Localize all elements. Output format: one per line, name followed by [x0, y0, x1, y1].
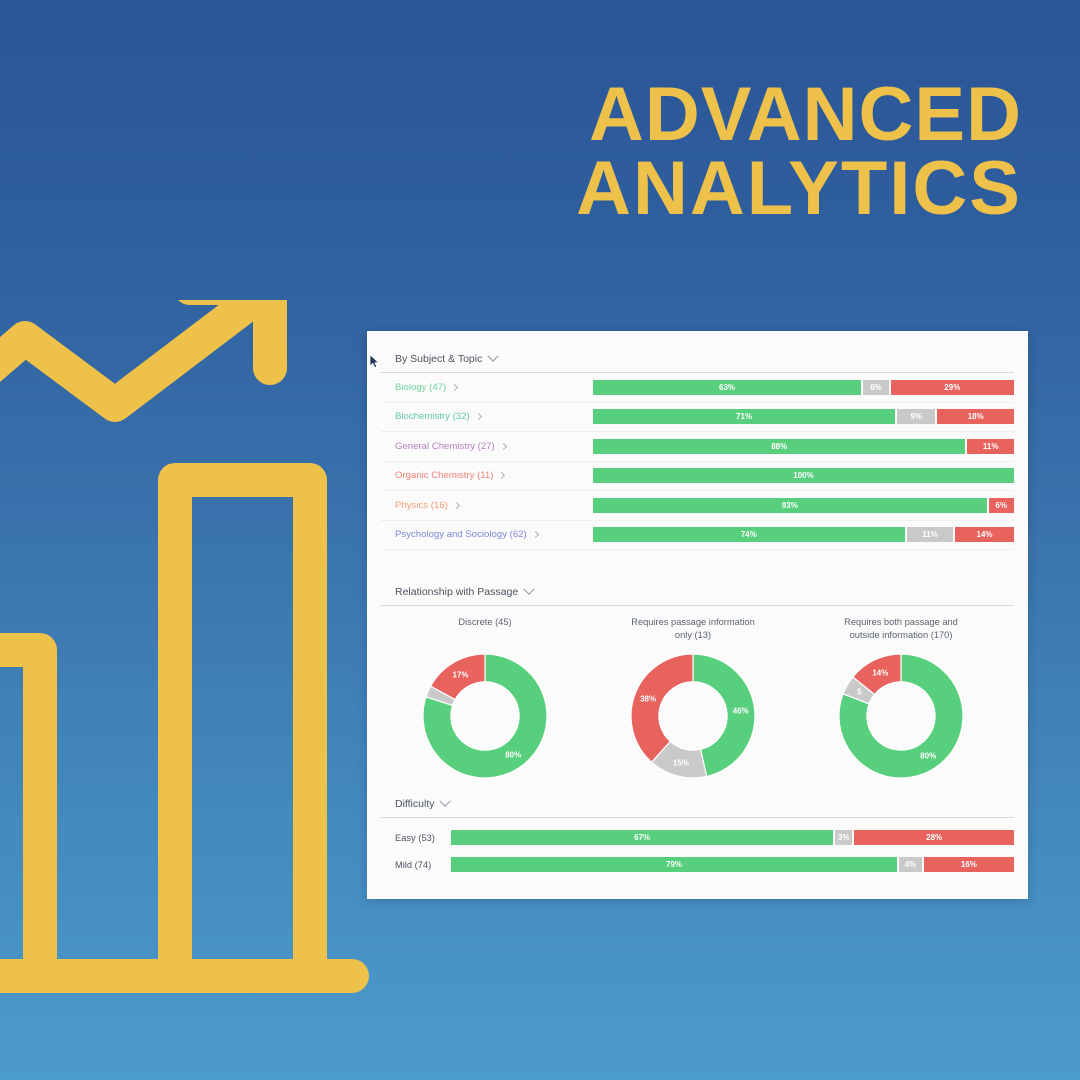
donut-chart-title: Requires both passage andoutside informa… [797, 616, 1005, 646]
headline-line-2: ANALYTICS [576, 152, 1022, 226]
donut-chart-title: Requires passage informationonly (13) [589, 616, 797, 646]
bar-segment-correct: 63% [593, 380, 861, 395]
mouse-cursor-icon [369, 354, 380, 369]
donut-slice-incorrect [631, 654, 693, 762]
headline-line-1: ADVANCED [589, 72, 1022, 157]
section-header-subject[interactable]: By Subject & Topic [381, 331, 1014, 372]
subject-name: Psychology and Sociology (62) [395, 529, 527, 540]
subject-row-label[interactable]: General Chemistry (27) [381, 441, 593, 452]
bar-segment-incorrect: 6% [989, 498, 1014, 513]
chevron-down-icon[interactable] [488, 351, 499, 362]
donut-chart-cell: Requires both passage andoutside informa… [797, 616, 1005, 778]
chevron-right-icon[interactable] [475, 413, 482, 420]
stacked-bar: 63%6%29% [593, 380, 1014, 395]
bar-segment-correct: 100% [593, 468, 1014, 483]
difficulty-row-label: Mild (74) [381, 860, 451, 870]
chevron-down-icon[interactable] [440, 796, 451, 807]
bar-segment-incorrect: 29% [891, 380, 1014, 395]
donut-chart[interactable]: 80%17% [423, 654, 547, 778]
table-row[interactable]: Easy (53)67%3%28% [381, 827, 1014, 848]
donut-chart-cell: Discrete (45)80%17% [381, 616, 589, 778]
donut-slice-label: 80% [920, 751, 936, 760]
bar-segment-partial: 9% [897, 409, 935, 424]
chevron-right-icon[interactable] [453, 502, 460, 509]
stacked-bar: 93%6% [593, 498, 1014, 513]
bar-segment-partial: 3% [835, 830, 852, 845]
section-title-passage: Relationship with Passage [395, 586, 518, 598]
bar-segment-incorrect: 11% [967, 439, 1014, 454]
subject-name: Physics (16) [395, 500, 448, 511]
subject-bar-list: Biology (47)63%6%29%Biochemistry (32)71%… [381, 373, 1014, 550]
donut-slice-label: 14% [872, 668, 888, 677]
stacked-bar: 71%9%18% [593, 409, 1014, 424]
subject-name: Organic Chemistry (11) [395, 470, 493, 481]
section-title-subject: By Subject & Topic [395, 353, 482, 365]
stacked-bar: 74%11%14% [593, 527, 1014, 542]
table-row[interactable]: Physics (16)93%6% [381, 491, 1014, 521]
donut-slice-label: 5 [857, 687, 861, 696]
stacked-bar: 88%11% [593, 439, 1014, 454]
page-title: ADVANCED ANALYTICS [576, 78, 1022, 227]
bar-segment-partial: 11% [907, 527, 953, 542]
chevron-right-icon[interactable] [532, 531, 539, 538]
bar-segment-incorrect: 18% [937, 409, 1014, 424]
bar-segment-correct: 88% [593, 439, 965, 454]
chevron-down-icon[interactable] [523, 584, 534, 595]
section-header-difficulty[interactable]: Difficulty [381, 784, 1014, 817]
bar-segment-incorrect: 14% [955, 527, 1014, 542]
stacked-bar: 100% [593, 468, 1014, 483]
subject-row-label[interactable]: Biology (47) [381, 382, 593, 393]
donut-chart[interactable]: 46%15%38% [631, 654, 755, 778]
bar-segment-correct: 79% [451, 857, 897, 872]
subject-name: Biochemistry (32) [395, 411, 470, 422]
section-title-difficulty: Difficulty [395, 798, 434, 810]
passage-donut-group: Discrete (45)80%17%Requires passage info… [381, 606, 1014, 784]
chevron-right-icon[interactable] [451, 384, 458, 391]
table-row[interactable]: Psychology and Sociology (62)74%11%14% [381, 521, 1014, 551]
donut-chart-cell: Requires passage informationonly (13)46%… [589, 616, 797, 778]
table-row[interactable]: Biology (47)63%6%29% [381, 373, 1014, 403]
bar-segment-partial: 4% [899, 857, 922, 872]
growth-chart-artwork [0, 300, 410, 1020]
bar-segment-partial: 6% [863, 380, 889, 395]
stacked-bar: 67%3%28% [451, 830, 1014, 845]
subject-name: Biology (47) [395, 382, 446, 393]
donut-slice-label: 38% [640, 694, 656, 703]
donut-chart[interactable]: 80%514% [839, 654, 963, 778]
analytics-dashboard-card: By Subject & Topic Biology (47)63%6%29%B… [367, 331, 1028, 899]
table-row[interactable]: General Chemistry (27)88%11% [381, 432, 1014, 462]
donut-chart-title: Discrete (45) [381, 616, 589, 646]
section-header-passage[interactable]: Relationship with Passage [381, 550, 1014, 605]
bar-segment-correct: 93% [593, 498, 987, 513]
subject-row-label[interactable]: Organic Chemistry (11) [381, 470, 593, 481]
donut-slice-label: 17% [453, 670, 469, 679]
table-row[interactable]: Organic Chemistry (11)100% [381, 462, 1014, 492]
chevron-right-icon[interactable] [500, 443, 507, 450]
difficulty-bar-list: Easy (53)67%3%28%Mild (74)79%4%16% [381, 818, 1014, 875]
subject-row-label[interactable]: Physics (16) [381, 500, 593, 511]
bar-segment-correct: 71% [593, 409, 895, 424]
donut-slice-label: 46% [733, 706, 749, 715]
difficulty-row-label: Easy (53) [381, 833, 451, 843]
subject-row-label[interactable]: Psychology and Sociology (62) [381, 529, 593, 540]
bar-segment-incorrect: 28% [854, 830, 1014, 845]
subject-name: General Chemistry (27) [395, 441, 495, 452]
bar-segment-incorrect: 16% [924, 857, 1014, 872]
table-row[interactable]: Mild (74)79%4%16% [381, 854, 1014, 875]
chevron-right-icon[interactable] [498, 472, 505, 479]
bar-segment-correct: 74% [593, 527, 905, 542]
subject-row-label[interactable]: Biochemistry (32) [381, 411, 593, 422]
stacked-bar: 79%4%16% [451, 857, 1014, 872]
donut-slice-label: 80% [505, 750, 521, 759]
table-row[interactable]: Biochemistry (32)71%9%18% [381, 403, 1014, 433]
donut-slice-label: 15% [673, 758, 689, 767]
bar-segment-correct: 67% [451, 830, 833, 845]
